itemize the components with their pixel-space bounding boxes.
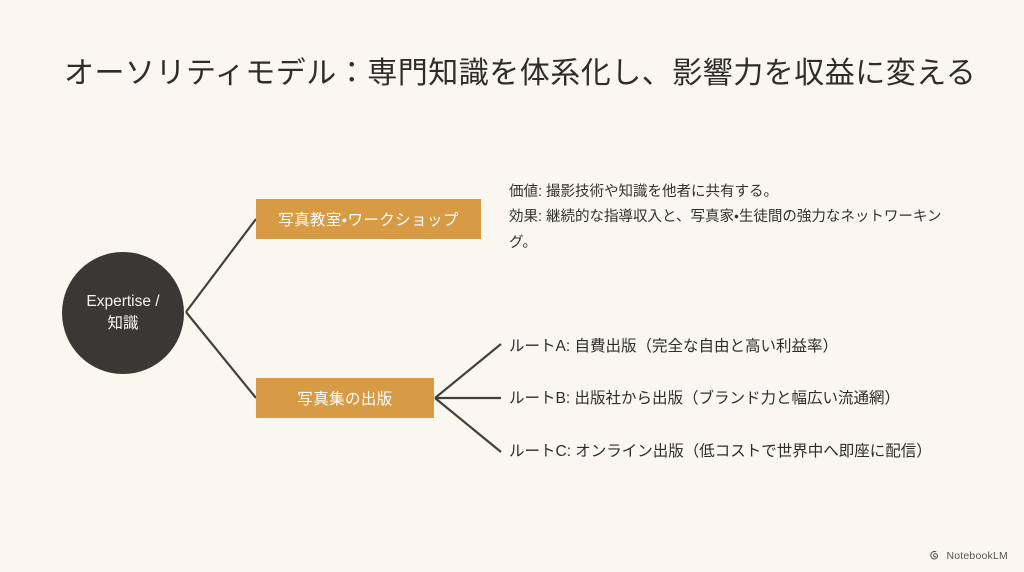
connector-root-to-photobook (186, 312, 256, 398)
branch-box-workshop: 写真教室・ワークショップ (256, 199, 481, 239)
route-item-c: ルートC: オンライン出版（低コストで世界中へ即座に配信） (509, 441, 932, 463)
root-node-expertise: Expertise / 知識 (62, 252, 184, 374)
workshop-detail-text: 価値: 撮影技術や知識を他者に共有する。 効果: 継続的な指導収入と、写真家・生… (509, 180, 947, 256)
notebooklm-spark-icon (929, 550, 941, 562)
notebooklm-watermark-label: NotebookLM (946, 550, 1008, 562)
branch-box-workshop-label: 写真教室・ワークショップ (278, 208, 459, 230)
route-item-a: ルートA: 自費出版（完全な自由と高い利益率） (509, 336, 838, 358)
notebooklm-watermark: NotebookLM (929, 550, 1008, 562)
connector-photobook-to-route-c (435, 398, 501, 452)
root-node-label-line1: Expertise / (86, 291, 159, 313)
root-node-label-line2: 知識 (107, 313, 138, 335)
connector-photobook-to-route-a (435, 344, 501, 398)
workshop-effect-line: 効果: 継続的な指導収入と、写真家・生徒間の強力なネットワーキング。 (509, 205, 947, 256)
slide-canvas: オーソリティモデル：専門知識を体系化し、影響力を収益に変える Expertise… (0, 0, 1024, 572)
branch-box-photobook-label: 写真集の出版 (297, 387, 392, 409)
page-title: オーソリティモデル：専門知識を体系化し、影響力を収益に変える (64, 54, 974, 95)
workshop-value-line: 価値: 撮影技術や知識を他者に共有する。 (509, 180, 947, 205)
connector-root-to-workshop (186, 219, 256, 312)
branch-box-photobook: 写真集の出版 (256, 378, 434, 418)
route-item-b: ルートB: 出版社から出版（ブランド力と幅広い流通網） (509, 388, 900, 410)
